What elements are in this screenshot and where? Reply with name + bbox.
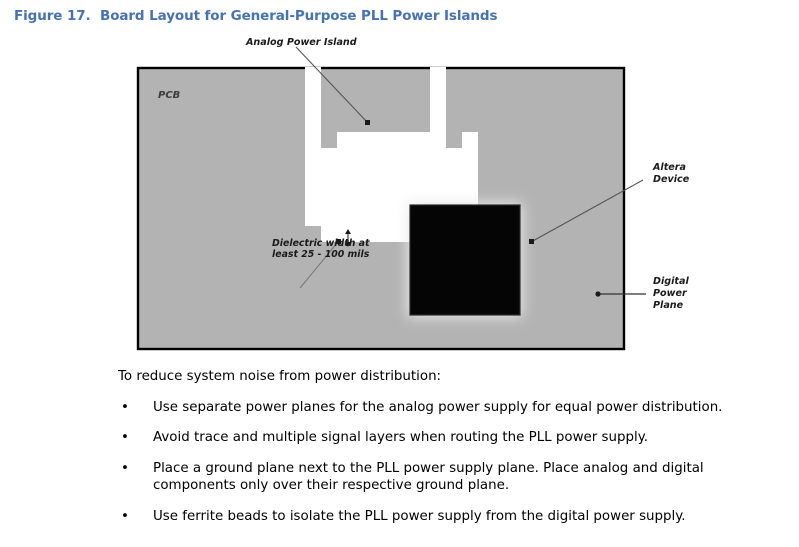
altera-device-label-line1: Altera bbox=[652, 162, 686, 173]
list-item: • Avoid trace and multiple signal layers… bbox=[118, 429, 788, 447]
dielectric-width-label-line1: Dielectric width at bbox=[272, 238, 370, 249]
bullet-icon: • bbox=[121, 429, 129, 447]
board-layout-diagram: Analog Power Island PCB Dielectric width… bbox=[0, 30, 799, 360]
analog-power-island-leader-arrowhead bbox=[365, 120, 370, 125]
figure-number: Figure 17. bbox=[14, 8, 100, 24]
bullet-icon: • bbox=[121, 460, 129, 478]
body-text-block: To reduce system noise from power distri… bbox=[118, 368, 788, 525]
bullet-icon: • bbox=[121, 399, 129, 417]
list-item-text: Avoid trace and multiple signal layers w… bbox=[153, 429, 788, 447]
pcb-label: PCB bbox=[158, 90, 180, 101]
list-item: • Use ferrite beads to isolate the PLL p… bbox=[118, 508, 788, 526]
altera-device-chip bbox=[410, 205, 520, 315]
analog-power-island-label: Analog Power Island bbox=[245, 37, 357, 48]
figure-title: Board Layout for General-Purpose PLL Pow… bbox=[100, 8, 497, 24]
list-item-text: Place a ground plane next to the PLL pow… bbox=[153, 460, 788, 495]
intro-paragraph: To reduce system noise from power distri… bbox=[118, 368, 788, 386]
digital-power-plane-leader-dot bbox=[595, 291, 600, 296]
list-item: • Place a ground plane next to the PLL p… bbox=[118, 460, 788, 495]
digital-power-plane-label-line2: Power bbox=[653, 288, 688, 299]
list-item-text: Use ferrite beads to isolate the PLL pow… bbox=[153, 508, 788, 526]
list-item-text: Use separate power planes for the analog… bbox=[153, 399, 788, 417]
list-item: • Use separate power planes for the anal… bbox=[118, 399, 788, 417]
altera-device-leader-arrowhead bbox=[529, 239, 534, 244]
recommendations-list: • Use separate power planes for the anal… bbox=[118, 399, 788, 526]
altera-device-label-line2: Device bbox=[653, 174, 690, 185]
figure-caption: Figure 17.Board Layout for General-Purpo… bbox=[14, 8, 784, 30]
board-layout-svg: Analog Power Island PCB Dielectric width… bbox=[0, 30, 799, 360]
bullet-icon: • bbox=[121, 508, 129, 526]
digital-power-plane-label-line1: Digital bbox=[653, 276, 689, 287]
digital-power-plane-label-line3: Plane bbox=[653, 300, 684, 311]
dielectric-width-label-line2: least 25 - 100 mils bbox=[272, 249, 370, 260]
